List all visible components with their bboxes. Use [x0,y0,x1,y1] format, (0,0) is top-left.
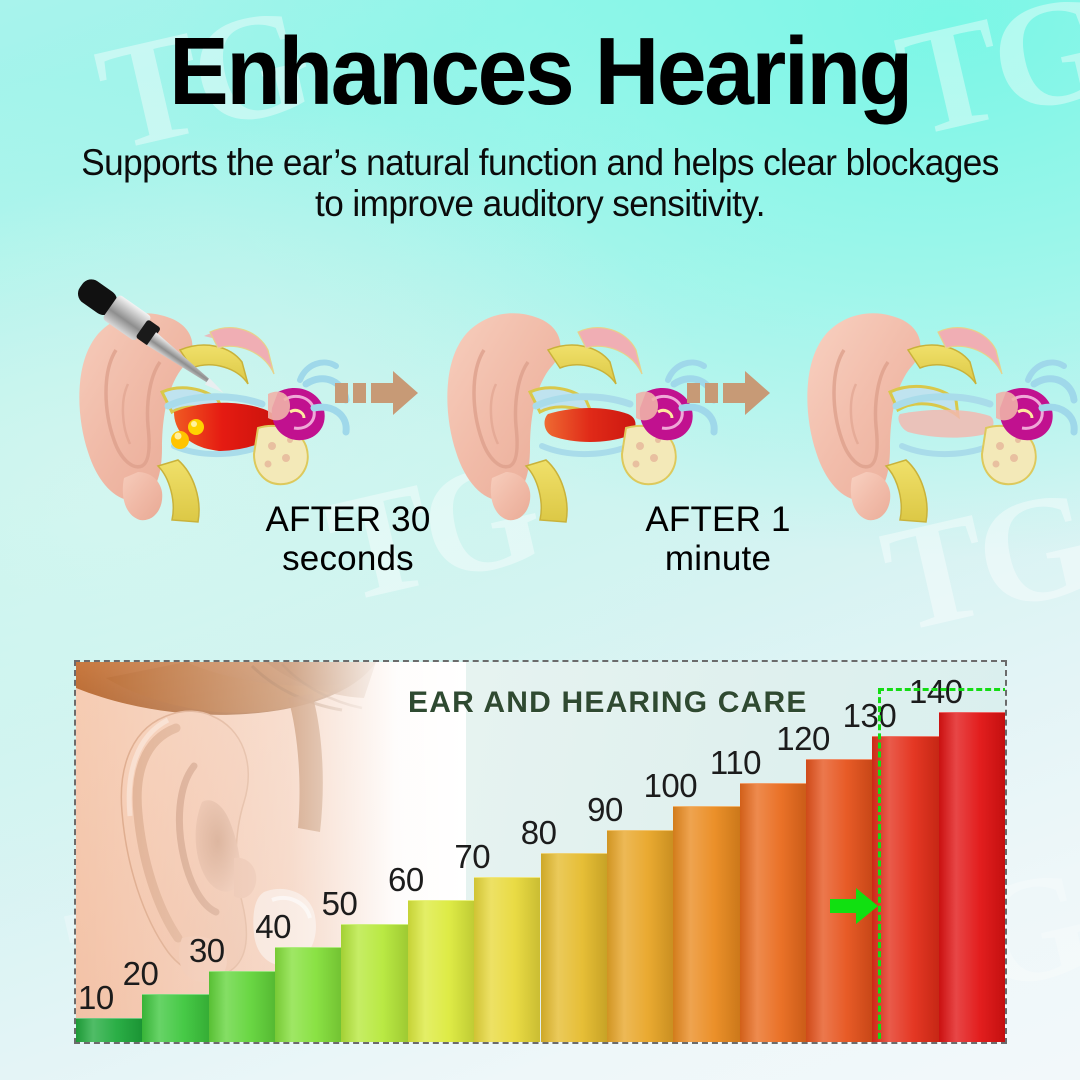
bar-value-label: 130 [843,697,897,735]
chart-bar [76,1018,142,1042]
bar-sheen [275,948,341,1042]
bar-value-label: 120 [776,720,830,758]
chart-bar [673,806,739,1042]
bar-value-label: 140 [909,673,963,711]
bar-value-label: 50 [322,885,358,923]
bar-value-label: 90 [587,791,623,829]
chart-bar [142,994,208,1042]
step-label-after-1-minute: AFTER 1 minute [628,500,808,578]
step-label-after-30-seconds: AFTER 30 seconds [248,500,448,578]
chart-bars: 102030405060708090100110120130140 [76,662,1005,1042]
bar-value-label: 30 [189,932,225,970]
page-title: Enhances Hearing [38,24,1042,120]
hearing-chart-panel: EAR AND HEARING CARE 1020304050607080901… [76,662,1005,1042]
progress-arrow-2 [687,370,771,416]
chart-bar [209,971,275,1042]
green-arrow-icon [828,886,880,926]
bar-sheen [76,1019,142,1042]
chart-bar [275,947,341,1042]
infographic-page: TG TG TG TG TG TG Enhances Hearing Suppo… [0,0,1080,1080]
bar-value-label: 10 [78,979,114,1017]
bar-sheen [209,972,275,1042]
bar-sheen [408,901,474,1042]
bar-sheen [607,831,673,1042]
bar-sheen [673,807,739,1042]
ear-diagram-step-1 [62,288,342,523]
ear-diagram-step-3 [790,288,1070,523]
progress-arrow-1 [335,370,419,416]
bar-sheen [341,925,407,1042]
bar-sheen [142,995,208,1042]
bar-sheen [939,713,1005,1042]
bar-sheen [474,878,540,1042]
bar-value-label: 40 [255,908,291,946]
bar-value-label: 80 [521,814,557,852]
bar-sheen [872,737,938,1042]
ear-diagram-step-2 [430,288,710,523]
bar-sheen [740,784,806,1042]
bar-value-label: 100 [644,767,698,805]
chart-bar [939,712,1005,1042]
chart-bar [872,736,938,1042]
bar-sheen [541,854,607,1042]
bar-value-label: 60 [388,861,424,899]
chart-bar [607,830,673,1042]
chart-bar [474,877,540,1042]
chart-bar [541,853,607,1042]
bar-value-label: 20 [123,955,159,993]
chart-bar [408,900,474,1042]
bar-value-label: 110 [710,744,761,782]
chart-bar [740,783,806,1042]
chart-bar [341,924,407,1042]
bar-value-label: 70 [454,838,490,876]
page-subtitle: Supports the ear’s natural function and … [75,142,1006,225]
